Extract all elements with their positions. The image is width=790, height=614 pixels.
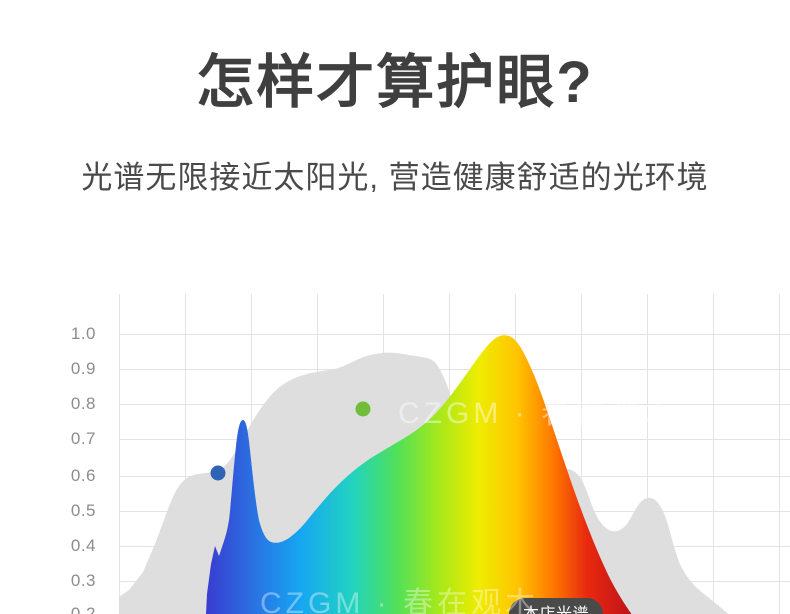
y-tick-0-4: 0.4	[71, 536, 96, 556]
y-tick-0-7: 0.7	[71, 429, 96, 449]
y-tick-0-9: 0.9	[71, 359, 96, 379]
green-marker	[356, 402, 371, 417]
spectrum-chart: 1.0 0.9 0.8 0.7 0.6 0.5 0.4 0.3 0.2	[0, 288, 790, 614]
y-tick-0-2: 0.2	[71, 604, 96, 614]
blue-marker	[211, 466, 226, 481]
callout-store-spectrum-label: 本店光谱	[523, 606, 589, 614]
y-tick-0-6: 0.6	[71, 466, 96, 486]
y-tick-0-8: 0.8	[71, 394, 96, 414]
y-tick-1-0: 1.0	[71, 324, 96, 344]
y-tick-0-3: 0.3	[71, 571, 96, 591]
plot-area: CZGM · 春在观木	[119, 294, 790, 614]
y-axis-labels: 1.0 0.9 0.8 0.7 0.6 0.5 0.4 0.3 0.2	[0, 288, 112, 614]
y-tick-0-5: 0.5	[71, 501, 96, 521]
infographic-page: 怎样才算护眼? 光谱无限接近太阳光, 营造健康舒适的光环境 1.0 0.9 0.…	[0, 0, 790, 614]
page-title: 怎样才算护眼?	[0, 52, 790, 114]
callout-store-spectrum: 本店光谱	[509, 598, 603, 614]
page-subtitle: 光谱无限接近太阳光, 营造健康舒适的光环境	[0, 158, 790, 198]
